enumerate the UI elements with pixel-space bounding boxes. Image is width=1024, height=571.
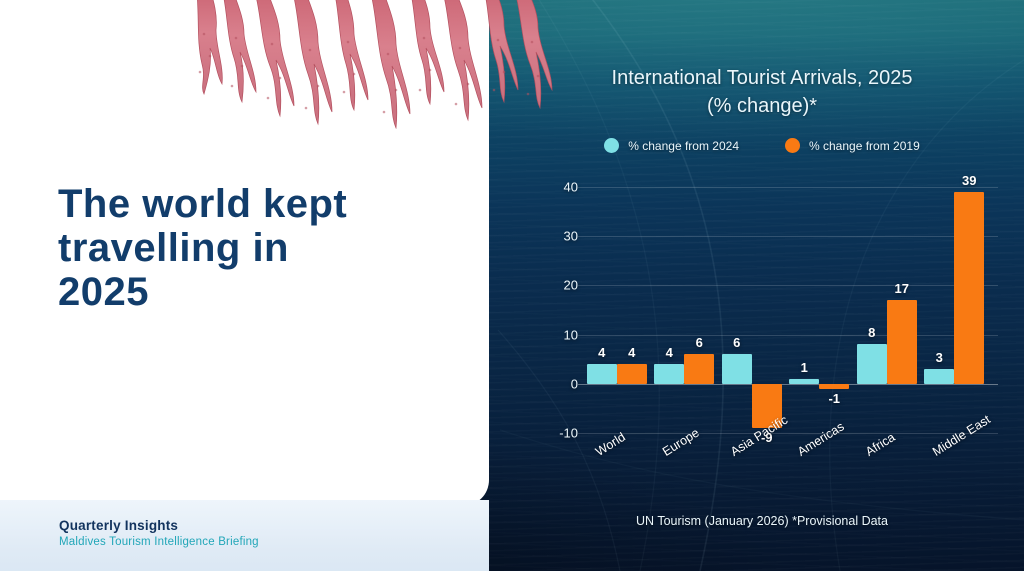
bar[interactable] [684,354,714,384]
bar[interactable] [617,364,647,384]
legend-swatch-icon [604,138,619,153]
left-footer: Quarterly Insights Maldives Tourism Inte… [59,518,259,548]
bar[interactable] [954,192,984,384]
bar-value-label: 3 [936,350,943,365]
gridline [578,187,998,188]
legend-label: % change from 2024 [628,139,739,153]
chart-title: International Tourist Arrivals, 2025 (% … [500,64,1024,120]
bar[interactable] [789,379,819,384]
chart-source-note: UN Tourism (January 2026) *Provisional D… [500,514,1024,528]
legend-item-1: % change from 2024 [604,138,739,153]
bar-value-label: 6 [733,335,740,350]
bar-value-label: 1 [801,360,808,375]
page-title: The world kept travelling in 2025 [58,182,388,314]
bar[interactable] [587,364,617,384]
bar-value-label: 17 [895,281,909,296]
bar-value-label: 6 [696,335,703,350]
footer-title: Quarterly Insights [59,518,259,533]
footer-subtitle: Maldives Tourism Intelligence Briefing [59,536,259,548]
gridline [578,433,998,434]
zero-line [578,384,998,385]
bar-value-label: 8 [868,325,875,340]
bar-value-label: 4 [666,345,673,360]
legend-item-2: % change from 2019 [785,138,920,153]
bar-value-label: -1 [828,391,840,406]
gridline [578,236,998,237]
y-axis-tick-label: 0 [538,376,578,391]
y-axis-tick-label: -10 [538,426,578,441]
chart-plot-area: 403020100-1044World46Europe6-9Asia Pacif… [533,180,993,440]
bar[interactable] [857,344,887,383]
legend-swatch-icon [785,138,800,153]
gridline [578,335,998,336]
bar-value-label: 39 [962,173,976,188]
chart-title-sub: (% change)* [500,92,1024,120]
y-axis-tick-label: 40 [538,180,578,195]
y-axis-tick-label: 20 [538,278,578,293]
bar[interactable] [654,364,684,384]
bar[interactable] [819,384,849,389]
legend-label: % change from 2019 [809,139,920,153]
bar[interactable] [924,369,954,384]
bar-value-label: 4 [598,345,605,360]
y-axis-tick-label: 10 [538,327,578,342]
chart-title-main: International Tourist Arrivals, 2025 [500,64,1024,92]
y-axis-tick-label: 30 [538,229,578,244]
gridline [578,285,998,286]
slide: The world kept travelling in 2025 Quarte… [0,0,1024,571]
bar-value-label: 4 [628,345,635,360]
bar[interactable] [722,354,752,384]
bar[interactable] [887,300,917,384]
chart-legend: % change from 2024% change from 2019 [500,138,1024,153]
